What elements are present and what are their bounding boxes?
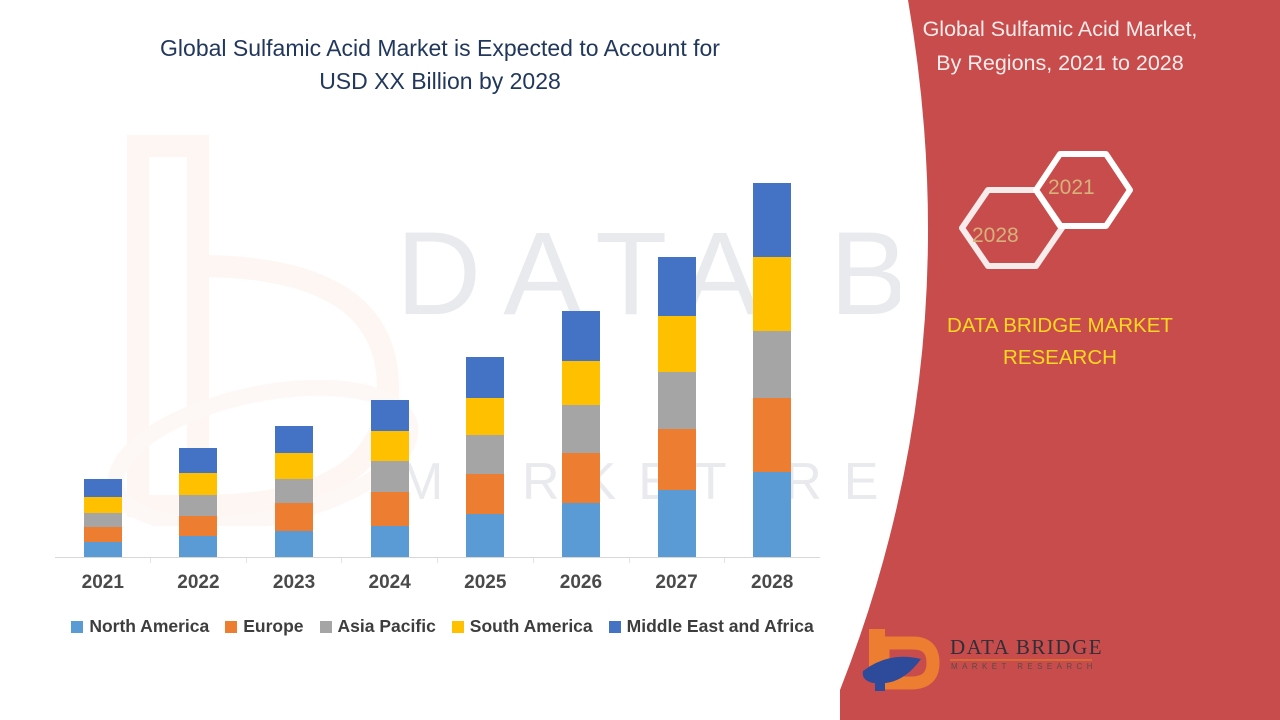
bar-segment-asia-pacific[interactable] bbox=[466, 435, 504, 474]
bar-segment-asia-pacific[interactable] bbox=[179, 495, 217, 516]
bar-segment-south-america[interactable] bbox=[753, 257, 791, 331]
x-axis-label-2028: 2028 bbox=[724, 572, 820, 594]
axis-tick bbox=[55, 558, 151, 563]
bar-segment-south-america[interactable] bbox=[658, 316, 696, 372]
bar-column-2021[interactable] bbox=[55, 150, 151, 557]
bar-segment-middle-east-and-africa[interactable] bbox=[562, 311, 600, 361]
bar-segment-north-america[interactable] bbox=[371, 526, 409, 557]
axis-ticks bbox=[55, 558, 820, 563]
x-axis-label-2027: 2027 bbox=[629, 572, 725, 594]
x-axis-label-2024: 2024 bbox=[342, 572, 438, 594]
bar-segment-middle-east-and-africa[interactable] bbox=[179, 448, 217, 472]
bar-segment-north-america[interactable] bbox=[658, 490, 696, 557]
stacked-bar[interactable] bbox=[562, 311, 600, 557]
bar-column-2022[interactable] bbox=[151, 150, 247, 557]
bar-column-2023[interactable] bbox=[246, 150, 342, 557]
stacked-bar[interactable] bbox=[658, 257, 696, 557]
bar-segment-asia-pacific[interactable] bbox=[275, 479, 313, 503]
bar-column-2028[interactable] bbox=[724, 150, 820, 557]
bar-segment-europe[interactable] bbox=[84, 527, 122, 542]
stacked-bar[interactable] bbox=[371, 400, 409, 557]
bar-segment-south-america[interactable] bbox=[275, 453, 313, 479]
x-axis-label-2022: 2022 bbox=[151, 572, 247, 594]
bar-segment-middle-east-and-africa[interactable] bbox=[466, 357, 504, 398]
bar-segment-north-america[interactable] bbox=[753, 472, 791, 557]
bar-segment-south-america[interactable] bbox=[562, 361, 600, 405]
hex-badges-group: 2021 2028 bbox=[940, 140, 1150, 280]
bar-segment-south-america[interactable] bbox=[371, 431, 409, 461]
bar-segment-south-america[interactable] bbox=[466, 398, 504, 435]
legend-swatch-icon bbox=[225, 621, 237, 633]
axis-tick bbox=[151, 558, 247, 563]
bar-segment-europe[interactable] bbox=[658, 429, 696, 490]
bar-segment-north-america[interactable] bbox=[562, 503, 600, 557]
brand-name: DATA BRIDGE MARKET RESEARCH bbox=[870, 310, 1250, 374]
bar-segment-europe[interactable] bbox=[753, 398, 791, 472]
x-axis-labels: 20212022202320242025202620272028 bbox=[55, 572, 820, 594]
legend-item-europe[interactable]: Europe bbox=[225, 616, 303, 637]
bar-column-2025[interactable] bbox=[438, 150, 534, 557]
legend-swatch-icon bbox=[71, 621, 83, 633]
bar-segment-middle-east-and-africa[interactable] bbox=[658, 257, 696, 316]
x-axis-line bbox=[55, 557, 820, 558]
x-axis-label-2023: 2023 bbox=[246, 572, 342, 594]
bar-segment-asia-pacific[interactable] bbox=[371, 461, 409, 492]
x-axis-label-2025: 2025 bbox=[438, 572, 534, 594]
right-red-panel: Global Sulfamic Acid Market, By Regions,… bbox=[840, 0, 1280, 720]
x-axis-label-2026: 2026 bbox=[533, 572, 629, 594]
bar-segment-europe[interactable] bbox=[179, 516, 217, 537]
bar-segment-middle-east-and-africa[interactable] bbox=[84, 479, 122, 497]
stacked-bar[interactable] bbox=[179, 448, 217, 557]
page-title: Global Sulfamic Acid Market is Expected … bbox=[60, 32, 820, 98]
hex-badges-icon bbox=[940, 140, 1150, 280]
stacked-bar[interactable] bbox=[753, 183, 791, 557]
bar-segment-south-america[interactable] bbox=[84, 497, 122, 513]
bar-segment-north-america[interactable] bbox=[466, 514, 504, 557]
legend-label: North America bbox=[89, 616, 209, 637]
hex-badge-2028-label: 2028 bbox=[972, 224, 1019, 248]
axis-tick bbox=[725, 558, 820, 563]
bar-segment-middle-east-and-africa[interactable] bbox=[275, 426, 313, 454]
company-logo-main-text: DATA BRIDGE bbox=[950, 635, 1103, 660]
chart-panel: DATA BRIDGE MARKET RESEARCH Global Sulfa… bbox=[0, 0, 900, 720]
bar-segment-europe[interactable] bbox=[371, 492, 409, 525]
legend-label: South America bbox=[470, 616, 593, 637]
company-logo-underline bbox=[950, 659, 1092, 661]
legend-label: Europe bbox=[243, 616, 303, 637]
right-panel-title-line-1: Global Sulfamic Acid Market, bbox=[870, 12, 1250, 46]
bar-segment-north-america[interactable] bbox=[179, 536, 217, 557]
legend-label: Middle East and Africa bbox=[627, 616, 814, 637]
bar-segment-europe[interactable] bbox=[562, 453, 600, 503]
hex-badge-2021-label: 2021 bbox=[1048, 176, 1095, 200]
bar-segment-asia-pacific[interactable] bbox=[658, 372, 696, 429]
bar-segment-south-america[interactable] bbox=[179, 473, 217, 495]
brand-name-line-2: RESEARCH bbox=[870, 342, 1250, 374]
legend-item-middle-east-and-africa[interactable]: Middle East and Africa bbox=[609, 616, 814, 637]
bar-segment-north-america[interactable] bbox=[275, 531, 313, 557]
brand-name-line-1: DATA BRIDGE MARKET bbox=[870, 310, 1250, 342]
bar-column-2027[interactable] bbox=[629, 150, 725, 557]
bar-column-2024[interactable] bbox=[342, 150, 438, 557]
right-panel-title: Global Sulfamic Acid Market, By Regions,… bbox=[870, 12, 1250, 80]
chart-legend: North AmericaEuropeAsia PacificSouth Ame… bbox=[55, 616, 830, 637]
page-title-line-2: USD XX Billion by 2028 bbox=[60, 65, 820, 98]
bar-segment-middle-east-and-africa[interactable] bbox=[371, 400, 409, 431]
bar-segment-asia-pacific[interactable] bbox=[84, 513, 122, 528]
company-logo: DATA BRIDGE MARKET RESEARCH bbox=[855, 625, 1095, 705]
x-axis-label-2021: 2021 bbox=[55, 572, 151, 594]
page-title-line-1: Global Sulfamic Acid Market is Expected … bbox=[60, 32, 820, 65]
legend-swatch-icon bbox=[452, 621, 464, 633]
bar-segment-middle-east-and-africa[interactable] bbox=[753, 183, 791, 257]
stacked-bar[interactable] bbox=[84, 479, 122, 557]
bar-segment-north-america[interactable] bbox=[84, 542, 122, 557]
bar-segment-europe[interactable] bbox=[275, 503, 313, 531]
legend-item-south-america[interactable]: South America bbox=[452, 616, 593, 637]
legend-item-asia-pacific[interactable]: Asia Pacific bbox=[320, 616, 436, 637]
axis-tick bbox=[247, 558, 343, 563]
axis-tick bbox=[438, 558, 534, 563]
bar-segment-europe[interactable] bbox=[466, 474, 504, 515]
legend-label: Asia Pacific bbox=[338, 616, 436, 637]
bar-segment-asia-pacific[interactable] bbox=[562, 405, 600, 453]
company-logo-sub-text: MARKET RESEARCH bbox=[951, 662, 1097, 671]
axis-tick bbox=[342, 558, 438, 563]
stacked-bar[interactable] bbox=[466, 357, 504, 557]
axis-tick bbox=[534, 558, 630, 563]
company-logo-mark-icon bbox=[855, 625, 945, 697]
bar-segment-asia-pacific[interactable] bbox=[753, 331, 791, 398]
right-panel-title-line-2: By Regions, 2021 to 2028 bbox=[870, 46, 1250, 80]
legend-swatch-icon bbox=[320, 621, 332, 633]
plot-area bbox=[55, 150, 820, 558]
legend-swatch-icon bbox=[609, 621, 621, 633]
legend-item-north-america[interactable]: North America bbox=[71, 616, 209, 637]
axis-tick bbox=[630, 558, 726, 563]
stacked-bar[interactable] bbox=[275, 426, 313, 557]
bar-column-2026[interactable] bbox=[533, 150, 629, 557]
bars-container bbox=[55, 150, 820, 557]
